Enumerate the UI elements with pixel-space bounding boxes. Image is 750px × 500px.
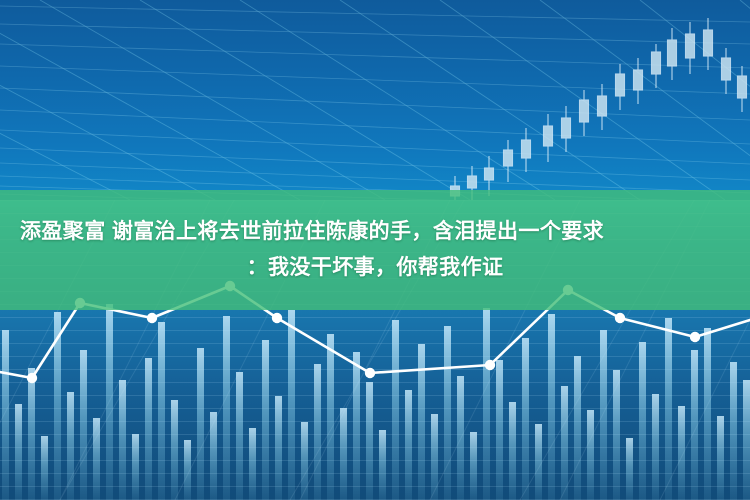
trend-point-marker <box>615 313 625 323</box>
trend-point-marker <box>690 332 700 342</box>
trend-point-marker <box>365 368 375 378</box>
caption-line-2: ：我没干坏事，你帮我作证 <box>247 253 504 283</box>
caption-text: 添盈聚富 谢富治上将去世前拉住陈康的手，含泪提出一个要求 ：我没干坏事，你帮我作… <box>0 190 750 310</box>
trend-point-marker <box>27 373 37 383</box>
caption-line-1: 添盈聚富 谢富治上将去世前拉住陈康的手，含泪提出一个要求 <box>14 217 604 247</box>
trend-point-marker <box>147 313 157 323</box>
trend-point-marker <box>485 360 495 370</box>
trend-point-marker <box>272 313 282 323</box>
stock-banner-image: 添盈聚富 谢富治上将去世前拉住陈康的手，含泪提出一个要求 ：我没干坏事，你帮我作… <box>0 0 750 500</box>
